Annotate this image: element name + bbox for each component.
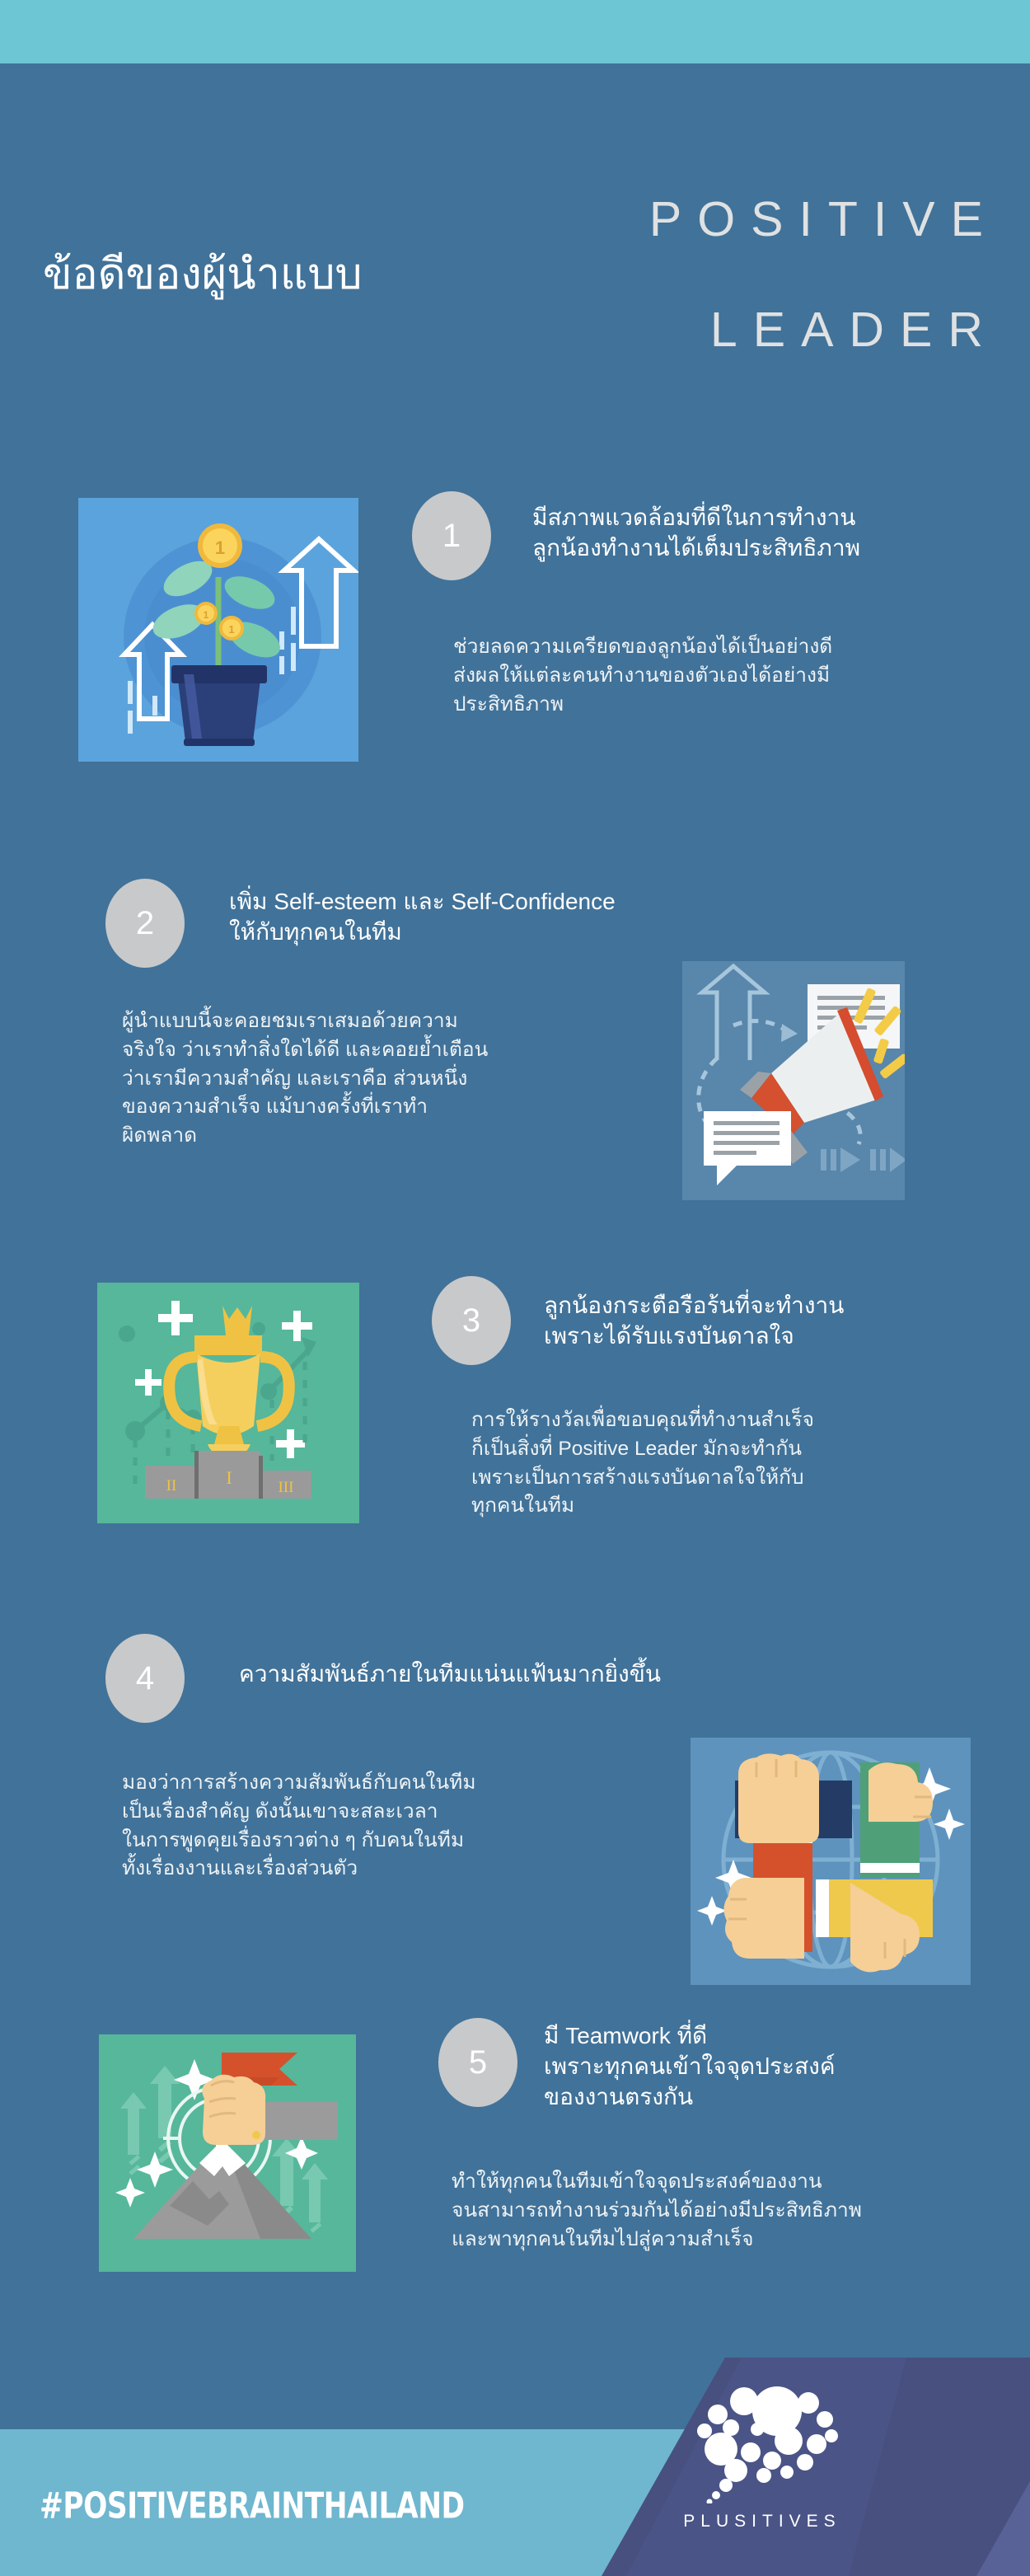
item-3-heading: ลูกน้องกระตือรือร้นที่จะทำงาน เพราะได้รั…	[544, 1291, 1005, 1352]
item-1-number-badge: 1	[412, 491, 491, 580]
item-2-heading: เพิ่ม Self-esteem และ Self-Confidence ให…	[229, 887, 855, 948]
hashtag-label: #POSITIVEBRAINTHAILAND	[40, 2485, 465, 2527]
svg-text:1: 1	[204, 609, 209, 621]
item-5-number-badge: 5	[438, 2018, 517, 2107]
money-plant-illustration: 1 1 1	[78, 498, 358, 762]
top-accent-band	[0, 0, 1030, 63]
trophy-podium-illustration: I II III	[97, 1283, 359, 1523]
brand-name: PLUSITIVES	[655, 2512, 869, 2531]
mountain-flag-illustration	[99, 2034, 356, 2272]
page-title-thai: ข้อดีของผู้นำแบบ	[43, 253, 362, 296]
item-5-body: ทำให้ทุกคนในทีมเข้าใจจุดประสงค์ของงาน จน…	[452, 2168, 995, 2254]
item-4-heading: ความสัมพันธ์ภายในทีมแน่นแฟ้นมากยิ่งขึ้น	[239, 1659, 898, 1690]
page-title-en-line2: LEADER	[710, 306, 999, 354]
item-3-number-badge: 3	[432, 1276, 511, 1365]
podium-place-right: III	[279, 1479, 294, 1496]
item-1-heading: มีสภาพแวดล้อมที่ดีในการทำงาน ลูกน้องทำงา…	[532, 503, 994, 564]
page-title-en-line1: POSITIVE	[649, 195, 999, 244]
teamwork-hands-illustration	[691, 1738, 971, 1985]
item-5-heading: มี Teamwork ที่ดี เพราะทุกคนเข้าใจจุดประ…	[544, 2021, 1005, 2113]
header: ข้อดีของผู้นำแบบ POSITIVE LEADER	[0, 63, 1030, 393]
item-4-number-badge: 4	[105, 1634, 185, 1723]
item-4-body: มองว่าการสร้างความสัมพันธ์กับคนในทีม เป็…	[122, 1769, 649, 1884]
item-3-body: การให้รางวัลเพื่อขอบคุณที่ทำงานสำเร็จ ก็…	[471, 1406, 982, 1521]
brain-bubbles-logo	[655, 2380, 869, 2503]
svg-text:1: 1	[215, 537, 225, 558]
megaphone-illustration	[682, 961, 905, 1200]
infographic-page: ข้อดีของผู้นำแบบ POSITIVE LEADER	[0, 0, 1030, 2576]
item-2-body: ผู้นำแบบนี้จะคอยชมเราเสมอด้วยความ จริงใจ…	[122, 1007, 633, 1151]
svg-text:1: 1	[228, 623, 234, 636]
footer: #POSITIVEBRAINTHAILAND PLUSITIVES	[0, 2358, 1030, 2576]
item-1-body: ช่วยลดความเครียดของลูกน้องได้เป็นอย่างดี…	[453, 633, 964, 719]
item-2-number-badge: 2	[105, 879, 185, 968]
podium-place-left: II	[166, 1477, 177, 1494]
podium-place-center: I	[226, 1467, 232, 1488]
